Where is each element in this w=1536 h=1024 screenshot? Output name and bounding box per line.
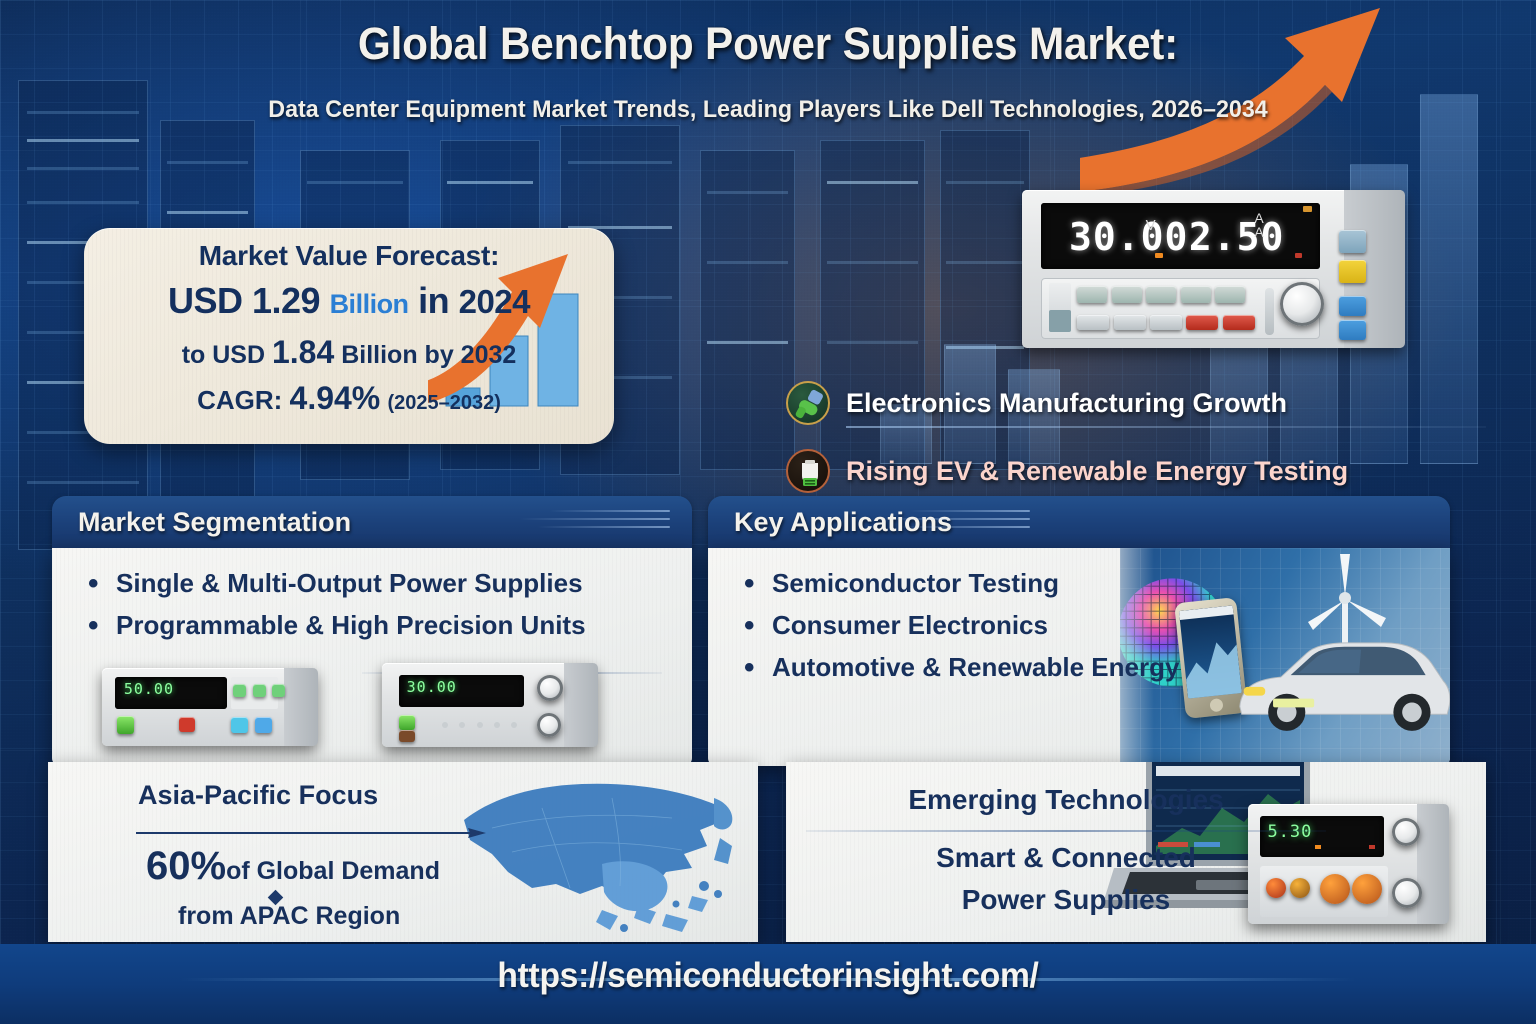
psu-button (1112, 286, 1142, 303)
panel-body: Single & Multi-Output Power Supplies Pro… (52, 548, 692, 766)
emerging-title: Emerging Technologies (786, 784, 1346, 816)
cagr-range: (2025–2032) (387, 392, 500, 414)
forecast-in: in (418, 280, 449, 321)
infographic-root: Global Benchtop Power Supplies Market: D… (0, 0, 1536, 1024)
apac-subtitle: from APAC Region (178, 902, 400, 931)
market-value-forecast-card: Market Value Forecast: USD 1.29 Billion … (84, 228, 614, 444)
segmentation-list: Single & Multi-Output Power Supplies Pro… (52, 548, 692, 646)
apac-percent: 60% (146, 844, 226, 888)
list-item: Single & Multi-Output Power Supplies (86, 562, 692, 604)
emerging-divider (806, 830, 1326, 832)
psu-button (1077, 315, 1109, 330)
asia-map-illustration (452, 768, 752, 940)
panel-body: Semiconductor Testing Consumer Electroni… (708, 548, 1450, 766)
forecast-to-usd: to USD (182, 341, 265, 369)
panel-title: Market Segmentation (78, 507, 351, 538)
panel-header: Market Segmentation (52, 496, 692, 548)
forecast-value-2032: 1.84 (272, 334, 334, 370)
list-item: Consumer Electronics (742, 604, 1450, 646)
hero-psu-display: 30.00 V 2.50 A A (1041, 203, 1320, 269)
cagr-value: 4.94% (290, 380, 381, 416)
header-decoration-lines (880, 510, 1030, 534)
forecast-year-base: 2024 (459, 283, 530, 320)
panel-header: Key Applications (708, 496, 1450, 548)
plug-growth-icon (786, 381, 830, 425)
psu-button (1077, 286, 1107, 303)
output-terminal (1352, 874, 1382, 904)
market-segmentation-panel: Market Segmentation Single & Multi-Outpu… (52, 496, 692, 766)
header-decoration-lines (520, 510, 670, 534)
list-item: Programmable & High Precision Units (86, 604, 692, 646)
forecast-line-1: USD 1.29 Billion in 2024 (84, 280, 614, 322)
forecast-line-2: to USD 1.84 Billion by 2032 (84, 334, 614, 371)
psu-button (1114, 315, 1146, 330)
apac-arrow-icon (136, 826, 486, 838)
psu-side-button-plus (1339, 296, 1366, 316)
footer-url[interactable]: https://semiconductorinsight.com/ (31, 956, 1506, 996)
psu-button (1150, 315, 1182, 330)
forecast-heading: Market Value Forecast: (84, 240, 614, 272)
psu-rotary-knob (1280, 282, 1324, 326)
list-item: Automotive & Renewable Energy (742, 646, 1450, 688)
psu-button (1146, 286, 1176, 303)
page-subtitle: Data Center Equipment Market Trends, Lea… (38, 96, 1497, 124)
forecast-unit-billion: Billion (330, 289, 409, 319)
driver-item-electronics: Electronics Manufacturing Growth (786, 376, 1486, 430)
psu-button (1215, 286, 1245, 303)
forecast-value-2024: USD 1.29 (168, 280, 320, 321)
psu-button (1181, 286, 1211, 303)
apac-title: Asia-Pacific Focus (138, 780, 378, 811)
psu-side-button-minus (1339, 320, 1366, 340)
psu-right-display: 30.00 (399, 675, 524, 707)
forecast-by-year: Billion by 2032 (341, 341, 516, 369)
ev-battery-icon (786, 449, 830, 493)
psu-button (1223, 315, 1255, 330)
driver-item-ev: Rising EV & Renewable Energy Testing (786, 444, 1486, 498)
emerging-technologies-panel: 5.30 Emerging Technologies Smart & Conne… (786, 762, 1486, 942)
list-item: Semiconductor Testing (742, 562, 1450, 604)
psu-left-display: 50.00 (115, 677, 227, 708)
applications-list: Semiconductor Testing Consumer Electroni… (708, 548, 1450, 688)
psu-button (1186, 315, 1218, 330)
psu-side-button-up (1339, 230, 1366, 253)
key-applications-panel: Key Applications (708, 496, 1450, 766)
page-title: Global Benchtop Power Supplies Market: (46, 18, 1490, 70)
emerging-line-1: Smart & Connected (786, 842, 1346, 874)
driver-label: Rising EV & Renewable Energy Testing (846, 456, 1348, 487)
cagr-label: CAGR: (197, 385, 282, 415)
psu-device-left-image: 50.00 (102, 668, 317, 746)
forecast-line-3: CAGR: 4.94% (2025–2032) (84, 380, 614, 417)
hero-current-value: 2.50 (1189, 215, 1285, 259)
footer-band: https://semiconductorinsight.com/ (0, 944, 1536, 1024)
asia-pacific-focus-panel: Asia-Pacific Focus 60%of Global Demand f… (48, 762, 758, 942)
hero-voltage-value: 30.00 (1069, 215, 1188, 259)
psu-side-button-enter (1339, 260, 1366, 283)
driver-label: Electronics Manufacturing Growth (846, 388, 1287, 419)
benchtop-power-supply-hero-image: 30.00 V 2.50 A A (1022, 190, 1404, 348)
hero-voltage-unit: V (1146, 217, 1156, 234)
hero-current-unit: A A (1254, 211, 1263, 240)
emerging-line-2: Power Supplies (786, 884, 1346, 916)
apac-percent-suffix: of Global Demand (226, 857, 440, 885)
apac-demand-line: 60%of Global Demand (146, 844, 440, 889)
market-drivers-list: Electronics Manufacturing Growth Rising … (786, 376, 1486, 498)
psu-device-right-image: 30.00 (382, 663, 597, 747)
